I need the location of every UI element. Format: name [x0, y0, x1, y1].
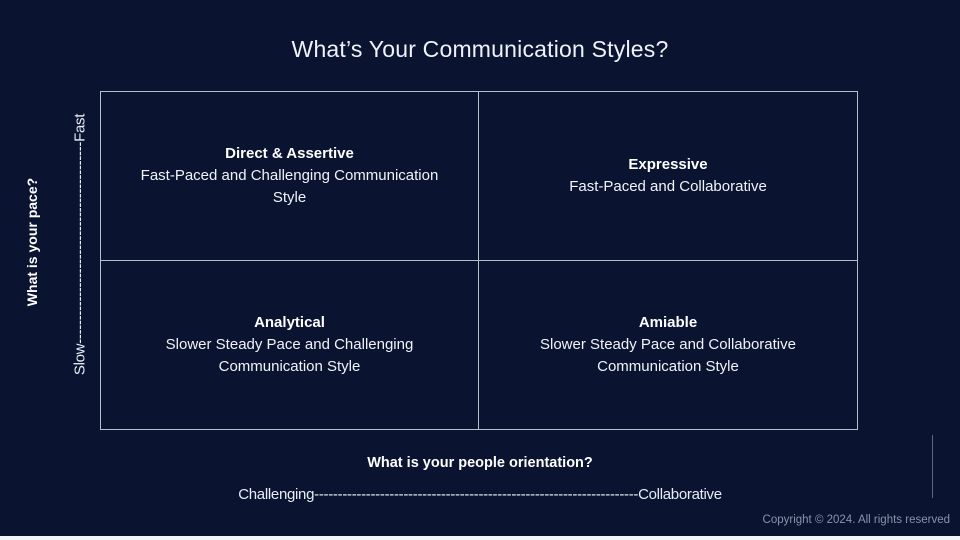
quadrant-expressive[interactable]: Expressive Fast-Paced and Collaborative: [479, 92, 857, 261]
communication-styles-matrix: Direct & Assertive Fast-Paced and Challe…: [100, 91, 858, 430]
quadrant-direct-assertive[interactable]: Direct & Assertive Fast-Paced and Challe…: [101, 92, 479, 261]
quadrant-amiable[interactable]: Amiable Slower Steady Pace and Collabora…: [479, 261, 857, 430]
copyright-text: Copyright © 2024. All rights reserved: [763, 514, 950, 526]
watermark-helm365: HELM365: [936, 0, 956, 14]
quadrant-description: Fast-Paced and Collaborative: [569, 176, 767, 198]
quadrant-title: Expressive: [628, 154, 707, 176]
y-axis-title: What is your pace?: [24, 147, 40, 337]
y-axis-scale: Slow------------------------------------…: [72, 75, 89, 415]
quadrant-description: Slower Steady Pace and Collaborative Com…: [503, 334, 833, 378]
quadrant-title: Direct & Assertive: [225, 143, 354, 165]
page-title: What’s Your Communication Styles?: [0, 36, 960, 63]
bottom-accent-bar: [0, 536, 960, 540]
quadrant-title: Analytical: [254, 312, 325, 334]
quadrant-description: Fast-Paced and Challenging Communication…: [125, 165, 455, 209]
quadrant-description: Slower Steady Pace and Challenging Commu…: [125, 334, 455, 378]
x-axis-title: What is your people orientation?: [0, 455, 960, 471]
quadrant-title: Amiable: [639, 312, 697, 334]
quadrant-analytical[interactable]: Analytical Slower Steady Pace and Challe…: [101, 261, 479, 430]
decorative-vertical-rule: [932, 435, 933, 498]
x-axis-scale: Challenging-----------------------------…: [0, 486, 960, 503]
